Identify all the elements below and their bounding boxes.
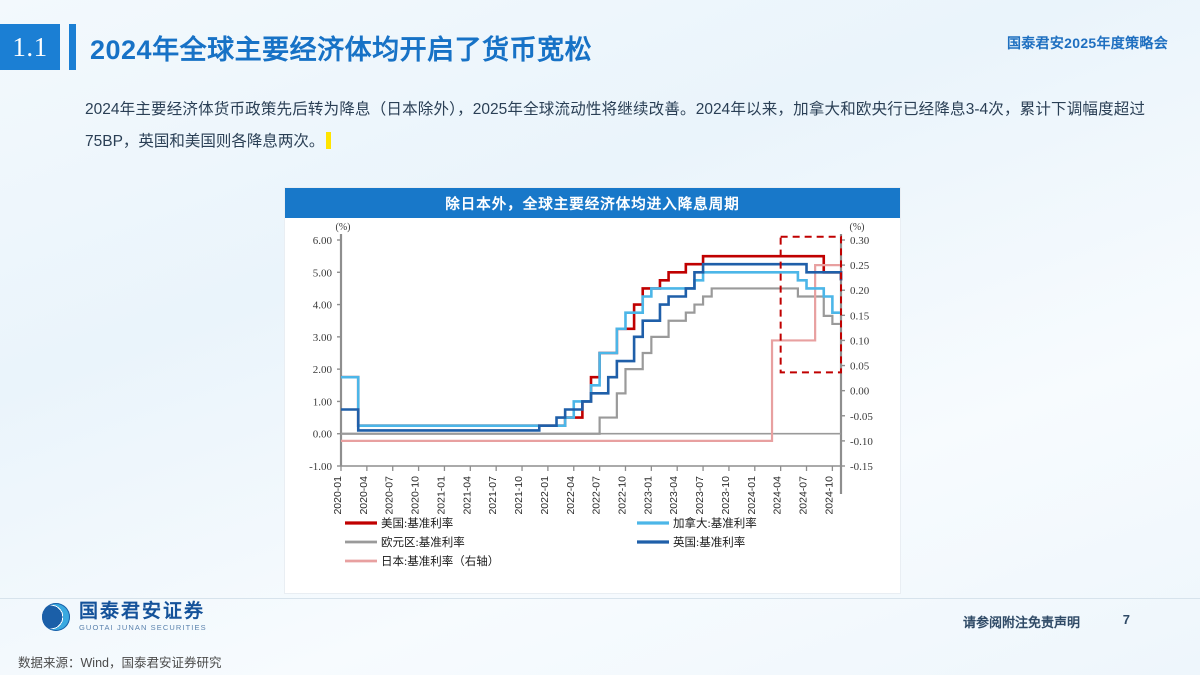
x-axis-tick-label: 2024-10 (823, 476, 835, 515)
y2-axis-tick-label: 0.20 (850, 285, 870, 297)
page-number: 7 (1123, 612, 1130, 627)
x-axis-tick-label: 2021-04 (461, 476, 473, 515)
page-title: 2024年全球主要经济体均开启了货币宽松 (90, 24, 592, 70)
x-axis-tick-label: 2023-01 (642, 476, 654, 515)
y2-axis-tick-label: 0.10 (850, 335, 870, 347)
chart-plot-area: 6.005.004.003.002.001.000.00-1.00(%)0.30… (285, 218, 900, 593)
y2-axis-tick-label: 0.30 (850, 235, 870, 247)
logo-text: 国泰君安证券 GUOTAI JUNAN SECURITIES (79, 602, 207, 632)
event-label: 国泰君安2025年度策略会 (1007, 33, 1168, 53)
slide-header: 1.1 2024年全球主要经济体均开启了货币宽松 (0, 24, 592, 70)
x-axis-tick-label: 2023-04 (668, 476, 680, 515)
y-axis-tick-label: 0.00 (313, 429, 333, 441)
y-axis-tick-label: 1.00 (313, 396, 333, 408)
y-axis-unit-label: (%) (336, 222, 351, 233)
x-axis-tick-label: 2023-07 (694, 476, 706, 515)
legend-label: 加拿大:基准利率 (673, 516, 757, 530)
y2-axis-tick-label: -0.10 (850, 436, 873, 448)
series-line (341, 265, 841, 441)
x-axis-tick-label: 2021-07 (487, 476, 499, 515)
legend-label: 英国:基准利率 (673, 535, 745, 549)
chart-title: 除日本外，全球主要经济体均进入降息周期 (285, 188, 900, 218)
x-axis-tick-label: 2022-07 (591, 476, 603, 515)
x-axis-tick-label: 2020-07 (384, 476, 396, 515)
policy-rate-line-chart: 6.005.004.003.002.001.000.00-1.00(%)0.30… (285, 218, 900, 593)
data-source-note: 数据来源：Wind，国泰君安证券研究 (18, 652, 221, 671)
x-axis-tick-label: 2022-04 (565, 476, 577, 515)
company-logo: 国泰君安证券 GUOTAI JUNAN SECURITIES (42, 602, 207, 632)
summary-paragraph: 2024年主要经济体货币政策先后转为降息（日本除外），2025年全球流动性将继续… (85, 94, 1145, 158)
x-axis-tick-label: 2024-01 (746, 476, 758, 515)
y-axis-tick-label: 6.00 (313, 235, 333, 247)
section-number-badge: 1.1 (0, 24, 60, 70)
x-axis-tick-label: 2020-01 (332, 476, 344, 515)
legend-label: 欧元区:基准利率 (381, 535, 465, 549)
x-axis-tick-label: 2024-07 (798, 476, 810, 515)
text-cursor-highlight (326, 132, 331, 149)
x-axis-tick-label: 2021-10 (513, 476, 525, 515)
x-axis-tick-label: 2022-01 (539, 476, 551, 515)
y2-axis-tick-label: -0.15 (850, 461, 873, 473)
header-accent-bar (69, 24, 76, 70)
x-axis-tick-label: 2023-10 (720, 476, 732, 515)
slide: 1.1 2024年全球主要经济体均开启了货币宽松 国泰君安2025年度策略会 2… (0, 0, 1200, 675)
y-axis-tick-label: 3.00 (313, 332, 333, 344)
summary-paragraph-text: 2024年主要经济体货币政策先后转为降息（日本除外），2025年全球流动性将继续… (85, 101, 1145, 150)
y2-axis-tick-label: 0.05 (850, 361, 870, 373)
y-axis-tick-label: -1.00 (309, 461, 332, 473)
y2-axis-tick-label: 0.15 (850, 310, 870, 322)
footer-divider (0, 598, 1200, 599)
chart-card: 除日本外，全球主要经济体均进入降息周期 6.005.004.003.002.00… (285, 188, 900, 593)
series-line (341, 288, 841, 433)
x-axis-tick-label: 2024-04 (772, 476, 784, 515)
x-axis-tick-label: 2020-10 (410, 476, 422, 515)
y2-axis-tick-label: 0.00 (850, 386, 870, 398)
y2-axis-unit-label: (%) (850, 222, 865, 233)
x-axis-tick-label: 2022-10 (616, 476, 628, 515)
legend-label: 日本:基准利率（右轴） (381, 554, 499, 568)
x-axis-tick-label: 2020-04 (358, 476, 370, 515)
disclaimer-note: 请参阅附注免责声明 (963, 612, 1080, 631)
x-axis-tick-label: 2021-01 (435, 476, 447, 515)
y-axis-tick-label: 5.00 (313, 267, 333, 279)
logo-name-en: GUOTAI JUNAN SECURITIES (79, 624, 207, 632)
legend-label: 美国:基准利率 (381, 516, 453, 530)
logo-mark-icon (42, 603, 70, 631)
y2-axis-tick-label: -0.05 (850, 411, 873, 423)
logo-name-cn: 国泰君安证券 (79, 602, 207, 621)
y-axis-tick-label: 4.00 (313, 300, 333, 312)
y2-axis-tick-label: 0.25 (850, 260, 870, 272)
y-axis-tick-label: 2.00 (313, 364, 333, 376)
